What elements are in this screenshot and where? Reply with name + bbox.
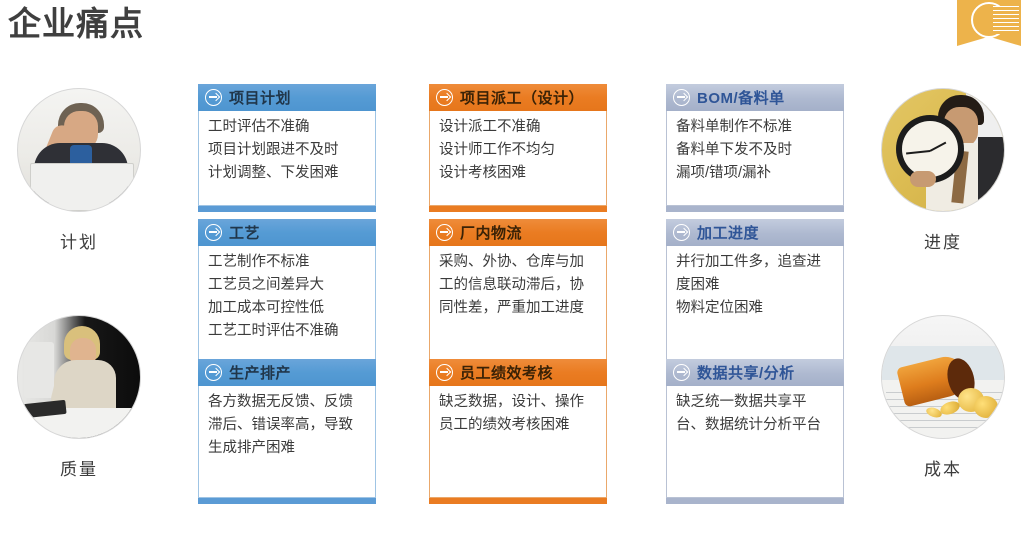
card-title: 员工绩效考核 bbox=[460, 362, 553, 383]
photo-cost-image bbox=[881, 315, 1005, 439]
card-body-line: 采购、外协、仓库与加工的信息联动滞后，协同性差，严重加工进度 bbox=[439, 251, 598, 320]
card-accent-bar bbox=[429, 498, 607, 504]
gold-ribbon-badge-icon bbox=[949, 0, 1021, 52]
photo-progress-image bbox=[881, 88, 1005, 212]
card-body-line: 工时评估不准确 bbox=[208, 116, 367, 139]
photo-cost: 成本 bbox=[868, 315, 1018, 480]
card-title: 厂内物流 bbox=[460, 222, 522, 243]
pain-point-card[interactable]: 生产排产各方数据无反馈、反馈滞后、错误率高，导致生成排产困难 bbox=[198, 359, 376, 504]
pain-point-card[interactable]: 数据共享/分析缺乏统一数据共享平台、数据统计分析平台 bbox=[666, 359, 844, 504]
pain-point-card[interactable]: 项目计划工时评估不准确项目计划跟进不及时计划调整、下发困难 bbox=[198, 84, 376, 212]
ribbon-stripes-icon bbox=[993, 6, 1019, 34]
card-body: 采购、外协、仓库与加工的信息联动滞后，协同性差，严重加工进度 bbox=[429, 246, 607, 364]
card-body: 并行加工件多，追查进度困难物料定位困难 bbox=[666, 246, 844, 364]
photo-cost-caption: 成本 bbox=[868, 455, 1018, 480]
arrow-right-circle-icon bbox=[205, 89, 222, 106]
card-header: 生产排产 bbox=[198, 359, 376, 386]
card-body: 各方数据无反馈、反馈滞后、错误率高，导致生成排产困难 bbox=[198, 386, 376, 498]
arrow-right-circle-icon bbox=[205, 224, 222, 241]
arrow-right-circle-icon bbox=[673, 224, 690, 241]
card-body: 工时评估不准确项目计划跟进不及时计划调整、下发困难 bbox=[198, 111, 376, 206]
photo-quality-image bbox=[17, 315, 141, 439]
arrow-right-circle-icon bbox=[436, 224, 453, 241]
card-body-line: 备料单下发不及时 bbox=[676, 139, 835, 162]
card-accent-bar bbox=[198, 498, 376, 504]
pain-point-card[interactable]: 项目派工（设计）设计派工不准确设计师工作不均匀设计考核困难 bbox=[429, 84, 607, 212]
card-body-line: 项目计划跟进不及时 bbox=[208, 139, 367, 162]
card-body-line: 备料单制作不标准 bbox=[676, 116, 835, 139]
card-title: 项目计划 bbox=[229, 87, 291, 108]
card-body-line: 工艺员之间差异大 bbox=[208, 274, 367, 297]
card-body-line: 加工成本可控性低 bbox=[208, 297, 367, 320]
card-accent-bar bbox=[666, 206, 844, 212]
card-body: 备料单制作不标准备料单下发不及时漏项/错项/漏补 bbox=[666, 111, 844, 206]
card-header: 加工进度 bbox=[666, 219, 844, 246]
arrow-right-circle-icon bbox=[205, 364, 222, 381]
card-header: 项目派工（设计） bbox=[429, 84, 607, 111]
card-title: 加工进度 bbox=[697, 222, 759, 243]
pain-point-card[interactable]: 厂内物流采购、外协、仓库与加工的信息联动滞后，协同性差，严重加工进度 bbox=[429, 219, 607, 370]
pain-point-card[interactable]: 加工进度并行加工件多，追查进度困难物料定位困难 bbox=[666, 219, 844, 370]
photo-quality: 质量 bbox=[4, 315, 154, 480]
card-title: 数据共享/分析 bbox=[697, 362, 795, 383]
card-accent-bar bbox=[429, 206, 607, 212]
card-header: 数据共享/分析 bbox=[666, 359, 844, 386]
pain-point-card[interactable]: BOM/备料单备料单制作不标准备料单下发不及时漏项/错项/漏补 bbox=[666, 84, 844, 212]
card-body: 缺乏数据，设计、操作员工的绩效考核困难 bbox=[429, 386, 607, 498]
photo-plan-image bbox=[17, 88, 141, 212]
card-header: 员工绩效考核 bbox=[429, 359, 607, 386]
page-title: 企业痛点 bbox=[8, 2, 144, 46]
arrow-right-circle-icon bbox=[436, 364, 453, 381]
card-header: 工艺 bbox=[198, 219, 376, 246]
pain-point-card[interactable]: 员工绩效考核缺乏数据，设计、操作员工的绩效考核困难 bbox=[429, 359, 607, 504]
card-accent-bar bbox=[198, 206, 376, 212]
arrow-right-circle-icon bbox=[673, 89, 690, 106]
card-body: 工艺制作不标准工艺员之间差异大加工成本可控性低工艺工时评估不准确 bbox=[198, 246, 376, 364]
photo-plan: 计划 bbox=[4, 88, 154, 253]
card-header: BOM/备料单 bbox=[666, 84, 844, 111]
card-body-line: 设计师工作不均匀 bbox=[439, 139, 598, 162]
pain-point-card[interactable]: 工艺工艺制作不标准工艺员之间差异大加工成本可控性低工艺工时评估不准确 bbox=[198, 219, 376, 370]
card-header: 项目计划 bbox=[198, 84, 376, 111]
card-body-line: 缺乏统一数据共享平台、数据统计分析平台 bbox=[676, 391, 835, 437]
card-body: 缺乏统一数据共享平台、数据统计分析平台 bbox=[666, 386, 844, 498]
card-body-line: 并行加工件多，追查进度困难 bbox=[676, 251, 835, 297]
card-body-line: 工艺工时评估不准确 bbox=[208, 320, 367, 343]
arrow-right-circle-icon bbox=[436, 89, 453, 106]
card-title: 项目派工（设计） bbox=[460, 87, 584, 108]
card-body: 设计派工不准确设计师工作不均匀设计考核困难 bbox=[429, 111, 607, 206]
card-body-line: 物料定位困难 bbox=[676, 297, 835, 320]
photo-plan-caption: 计划 bbox=[4, 228, 154, 253]
card-body-line: 各方数据无反馈、反馈滞后、错误率高，导致生成排产困难 bbox=[208, 391, 367, 460]
arrow-right-circle-icon bbox=[673, 364, 690, 381]
card-accent-bar bbox=[666, 498, 844, 504]
photo-progress: 进度 bbox=[868, 88, 1018, 253]
card-body-line: 设计派工不准确 bbox=[439, 116, 598, 139]
card-body-line: 工艺制作不标准 bbox=[208, 251, 367, 274]
card-body-line: 设计考核困难 bbox=[439, 162, 598, 185]
card-title: BOM/备料单 bbox=[697, 87, 785, 108]
card-body-line: 漏项/错项/漏补 bbox=[676, 162, 835, 185]
card-title: 工艺 bbox=[229, 222, 260, 243]
card-body-line: 缺乏数据，设计、操作员工的绩效考核困难 bbox=[439, 391, 598, 437]
card-header: 厂内物流 bbox=[429, 219, 607, 246]
photo-progress-caption: 进度 bbox=[868, 228, 1018, 253]
photo-quality-caption: 质量 bbox=[4, 455, 154, 480]
card-title: 生产排产 bbox=[229, 362, 291, 383]
card-body-line: 计划调整、下发困难 bbox=[208, 162, 367, 185]
